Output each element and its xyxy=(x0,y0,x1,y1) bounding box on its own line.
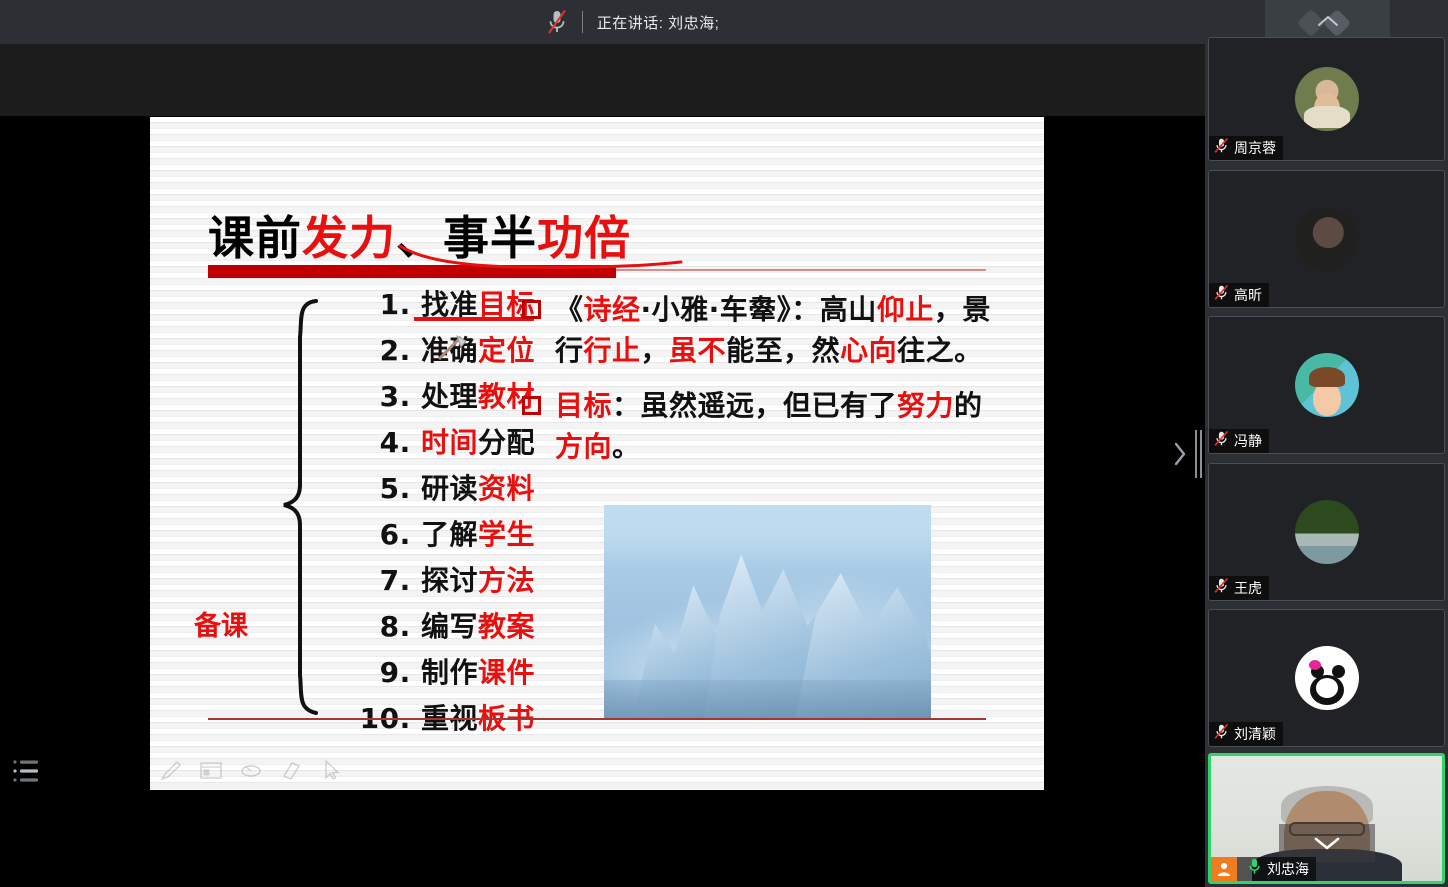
list-item: 4. 时间分配 xyxy=(320,420,535,466)
presentation-stage: 正在讲话: 刘忠海; 课前发力、事半功倍 备课 1. 找准目标2. 准确定位3.… xyxy=(0,0,1205,887)
eraser-icon[interactable] xyxy=(278,757,304,783)
active-speaker-name-badge: 刘忠海 xyxy=(1211,857,1316,881)
list-item: 6. 了解学生 xyxy=(320,512,535,558)
stage-letterbox-band xyxy=(0,44,1205,116)
cursor-icon[interactable] xyxy=(318,757,344,783)
participant-tile[interactable]: 高昕 xyxy=(1208,170,1445,308)
bullet-text: 《诗经·小雅·车舝》：高山仰止，景行行止，虽不能至，然心向往之。 xyxy=(555,289,992,371)
curly-brace-icon xyxy=(280,297,320,717)
mic-muted-icon xyxy=(546,9,568,35)
active-speaker-name: 刘忠海 xyxy=(1267,859,1309,879)
bullet-row: 《诗经·小雅·车舝》：高山仰止，景行行止，虽不能至，然心向往之。 xyxy=(522,289,992,371)
participant-tile[interactable]: 刘清颖 xyxy=(1208,609,1445,747)
bottom-rule xyxy=(208,718,986,720)
mic-muted-icon xyxy=(1213,137,1230,159)
participants-panel: 周京蓉高昕冯静王虎刘清颖刘忠海 xyxy=(1205,0,1448,887)
active-speaker-tile[interactable]: 刘忠海 xyxy=(1208,753,1445,884)
mic-muted-icon xyxy=(1213,723,1230,745)
chevron-up-icon[interactable] xyxy=(1316,14,1340,33)
slide-bullets: 《诗经·小雅·车舝》：高山仰止，景行行止，虽不能至，然心向往之。目标：虽然遥远，… xyxy=(522,289,992,481)
slide-layout-icon[interactable] xyxy=(198,757,224,783)
mic-muted-icon xyxy=(1213,430,1230,452)
speaking-status-bar: 正在讲话: 刘忠海; xyxy=(0,0,1205,44)
speaking-label: 正在讲话: 刘忠海; xyxy=(597,12,720,33)
preparation-steps-list: 1. 找准目标2. 准确定位3. 处理教材4. 时间分配5. 研读资料6. 了解… xyxy=(320,282,535,742)
list-item: 9. 制作课件 xyxy=(320,650,535,696)
avatar xyxy=(1295,646,1359,710)
list-item: 5. 研读资料 xyxy=(320,466,535,512)
list-item: 3. 处理教材 xyxy=(320,374,535,420)
participant-name: 冯静 xyxy=(1234,431,1262,451)
participant-name-badge: 高昕 xyxy=(1209,283,1269,307)
pen-icon[interactable] xyxy=(158,757,184,783)
bullet-row: 目标：虽然遥远，但已有了努力的方向。 xyxy=(522,385,992,467)
participant-name: 刘清颖 xyxy=(1234,724,1276,744)
handwriting-annotation xyxy=(396,240,686,276)
mic-on-icon xyxy=(1241,857,1263,881)
host-icon xyxy=(1211,857,1237,881)
list-item: 1. 找准目标 xyxy=(320,282,535,328)
avatar xyxy=(1295,500,1359,564)
pen-scratch-annotation xyxy=(435,333,469,363)
shared-slide[interactable]: 课前发力、事半功倍 备课 1. 找准目标2. 准确定位3. 处理教材4. 时间分… xyxy=(150,117,1044,790)
list-item: 2. 准确定位 xyxy=(320,328,535,374)
list-item: 8. 编写教案 xyxy=(320,604,535,650)
square-bullet-icon xyxy=(522,300,541,319)
participant-name-badge: 王虎 xyxy=(1209,576,1269,600)
item1-underline xyxy=(414,317,534,321)
chevron-right-icon[interactable] xyxy=(1172,440,1188,473)
participant-name-badge: 冯静 xyxy=(1209,429,1269,453)
participant-name: 王虎 xyxy=(1234,578,1262,598)
participant-tile[interactable]: 王虎 xyxy=(1208,463,1445,601)
avatar xyxy=(1295,207,1359,271)
avatar xyxy=(1295,353,1359,417)
participant-name-badge: 刘清颖 xyxy=(1209,722,1283,746)
list-view-icon[interactable] xyxy=(10,756,42,786)
brace-label: 备课 xyxy=(194,604,248,643)
laser-pointer-icon[interactable] xyxy=(238,757,264,783)
meeting-screen: 正在讲话: 刘忠海; 课前发力、事半功倍 备课 1. 找准目标2. 准确定位3.… xyxy=(0,0,1448,887)
participant-name-badge: 周京蓉 xyxy=(1209,136,1283,160)
separator xyxy=(582,11,583,33)
panel-drag-handle[interactable] xyxy=(1194,430,1205,478)
bullet-text: 目标：虽然遥远，但已有了努力的方向。 xyxy=(555,385,992,467)
square-bullet-icon xyxy=(522,396,541,415)
snow-mountain-photo xyxy=(604,505,931,719)
participant-tile[interactable]: 冯静 xyxy=(1208,316,1445,454)
avatar xyxy=(1295,67,1359,131)
list-item: 7. 探讨方法 xyxy=(320,558,535,604)
participant-name: 高昕 xyxy=(1234,285,1262,305)
participant-name: 周京蓉 xyxy=(1234,138,1276,158)
chevron-down-icon[interactable] xyxy=(1279,824,1375,862)
mic-muted-icon xyxy=(1213,284,1230,306)
participant-tile[interactable]: 周京蓉 xyxy=(1208,37,1445,161)
mic-muted-icon xyxy=(1213,577,1230,599)
annotation-toolbar[interactable] xyxy=(158,757,344,783)
